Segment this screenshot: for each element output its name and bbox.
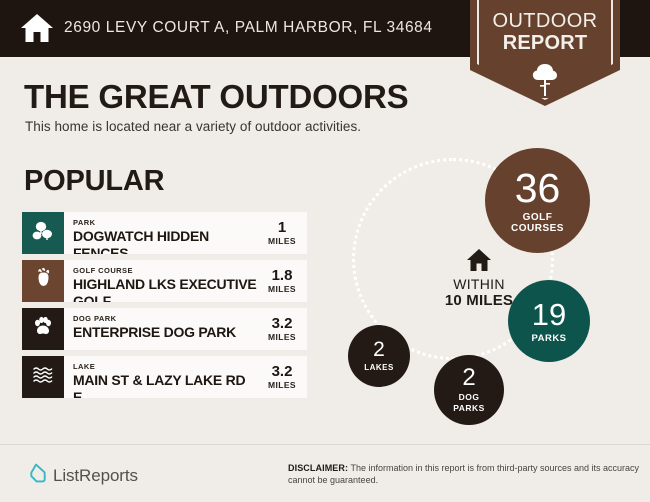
- item-icon-box: [22, 260, 64, 302]
- bubble-label-2: PARKS: [453, 403, 485, 414]
- list-item[interactable]: PARK DOGWATCH HIDDEN FENCES 1 MILES: [22, 212, 307, 254]
- item-icon-box: [22, 212, 64, 254]
- tree-icon: [528, 62, 562, 98]
- bubble-count: 36: [515, 168, 561, 209]
- waves-icon: [31, 365, 55, 390]
- park-trees-icon: [32, 221, 54, 246]
- page-title: THE GREAT OUTDOORS: [24, 78, 408, 116]
- bubble-golf-courses[interactable]: 36 GOLF COURSES: [485, 148, 590, 253]
- property-address: 2690 LEVY COURT A, PALM HARBOR, FL 34684: [64, 19, 433, 37]
- list-item[interactable]: DOG PARK ENTERPRISE DOG PARK 3.2 MILES: [22, 308, 307, 350]
- bubble-label-1: GOLF: [523, 212, 553, 223]
- popular-heading: POPULAR: [24, 165, 164, 198]
- item-distance-value: 1.8: [257, 268, 307, 284]
- bubble-dog-parks[interactable]: 2 DOG PARKS: [434, 355, 504, 425]
- popular-list: PARK DOGWATCH HIDDEN FENCES 1 MILES GOLF…: [22, 212, 307, 404]
- home-icon: [20, 12, 54, 44]
- item-body: LAKE MAIN ST & LAZY LAKE RD E: [64, 356, 257, 398]
- item-distance-value: 3.2: [257, 316, 307, 332]
- bubble-count: 2: [373, 339, 385, 360]
- item-distance-unit: MILES: [257, 236, 307, 246]
- item-distance: 3.2 MILES: [257, 356, 307, 398]
- listreports-logo[interactable]: ListReports: [25, 462, 138, 489]
- item-distance: 3.2 MILES: [257, 308, 307, 350]
- nearby-diagram: WITHIN 10 MILES 36 GOLF COURSES 19 PARKS…: [330, 140, 640, 440]
- item-name: DOGWATCH HIDDEN FENCES: [73, 228, 257, 254]
- outdoor-report-badge: OUTDOOR REPORT: [470, 0, 620, 106]
- item-category: DOG PARK: [73, 314, 257, 323]
- bubble-count: 19: [532, 299, 566, 330]
- item-name: MAIN ST & LAZY LAKE RD E: [73, 372, 257, 398]
- home-icon: [466, 248, 492, 272]
- bubble-label-1: PARKS: [531, 333, 566, 344]
- item-distance: 1.8 MILES: [257, 260, 307, 302]
- item-icon-box: [22, 356, 64, 398]
- item-body: PARK DOGWATCH HIDDEN FENCES: [64, 212, 257, 254]
- list-item[interactable]: LAKE MAIN ST & LAZY LAKE RD E 3.2 MILES: [22, 356, 307, 398]
- badge-line-2: REPORT: [470, 32, 620, 54]
- disclaimer: DISCLAIMER: The information in this repo…: [288, 463, 640, 486]
- bubble-label-1: DOG: [459, 392, 480, 403]
- item-icon-box: [22, 308, 64, 350]
- footer-divider: [0, 444, 650, 445]
- bubble-label-1: LAKES: [364, 362, 394, 373]
- listreports-house-icon: [25, 462, 53, 489]
- item-body: DOG PARK ENTERPRISE DOG PARK: [64, 308, 257, 350]
- item-distance-value: 1: [257, 220, 307, 236]
- item-category: PARK: [73, 218, 257, 227]
- badge-text: OUTDOOR REPORT: [470, 10, 620, 54]
- listreports-logo-text: ListReports: [53, 466, 138, 486]
- bubble-count: 2: [462, 366, 475, 390]
- bubble-lakes[interactable]: 2 LAKES: [348, 325, 410, 387]
- item-distance-unit: MILES: [257, 380, 307, 390]
- golf-icon: [32, 268, 54, 295]
- badge-line-1: OUTDOOR: [470, 10, 620, 32]
- page-subtitle: This home is located near a variety of o…: [25, 119, 361, 134]
- item-category: LAKE: [73, 362, 257, 371]
- bubble-label-2: COURSES: [511, 223, 564, 234]
- item-category: GOLF COURSE: [73, 266, 257, 275]
- bubble-parks[interactable]: 19 PARKS: [508, 280, 590, 362]
- paw-icon: [32, 316, 54, 343]
- item-distance-unit: MILES: [257, 284, 307, 294]
- outdoor-report-page: 2690 LEVY COURT A, PALM HARBOR, FL 34684…: [0, 0, 650, 502]
- item-name: HIGHLAND LKS EXECUTIVE GOLF: [73, 276, 257, 302]
- item-body: GOLF COURSE HIGHLAND LKS EXECUTIVE GOLF: [64, 260, 257, 302]
- item-distance: 1 MILES: [257, 212, 307, 254]
- center-line-1: WITHIN: [424, 276, 534, 292]
- list-item[interactable]: GOLF COURSE HIGHLAND LKS EXECUTIVE GOLF …: [22, 260, 307, 302]
- item-distance-unit: MILES: [257, 332, 307, 342]
- item-distance-value: 3.2: [257, 364, 307, 380]
- item-name: ENTERPRISE DOG PARK: [73, 324, 257, 341]
- disclaimer-label: DISCLAIMER:: [288, 463, 348, 473]
